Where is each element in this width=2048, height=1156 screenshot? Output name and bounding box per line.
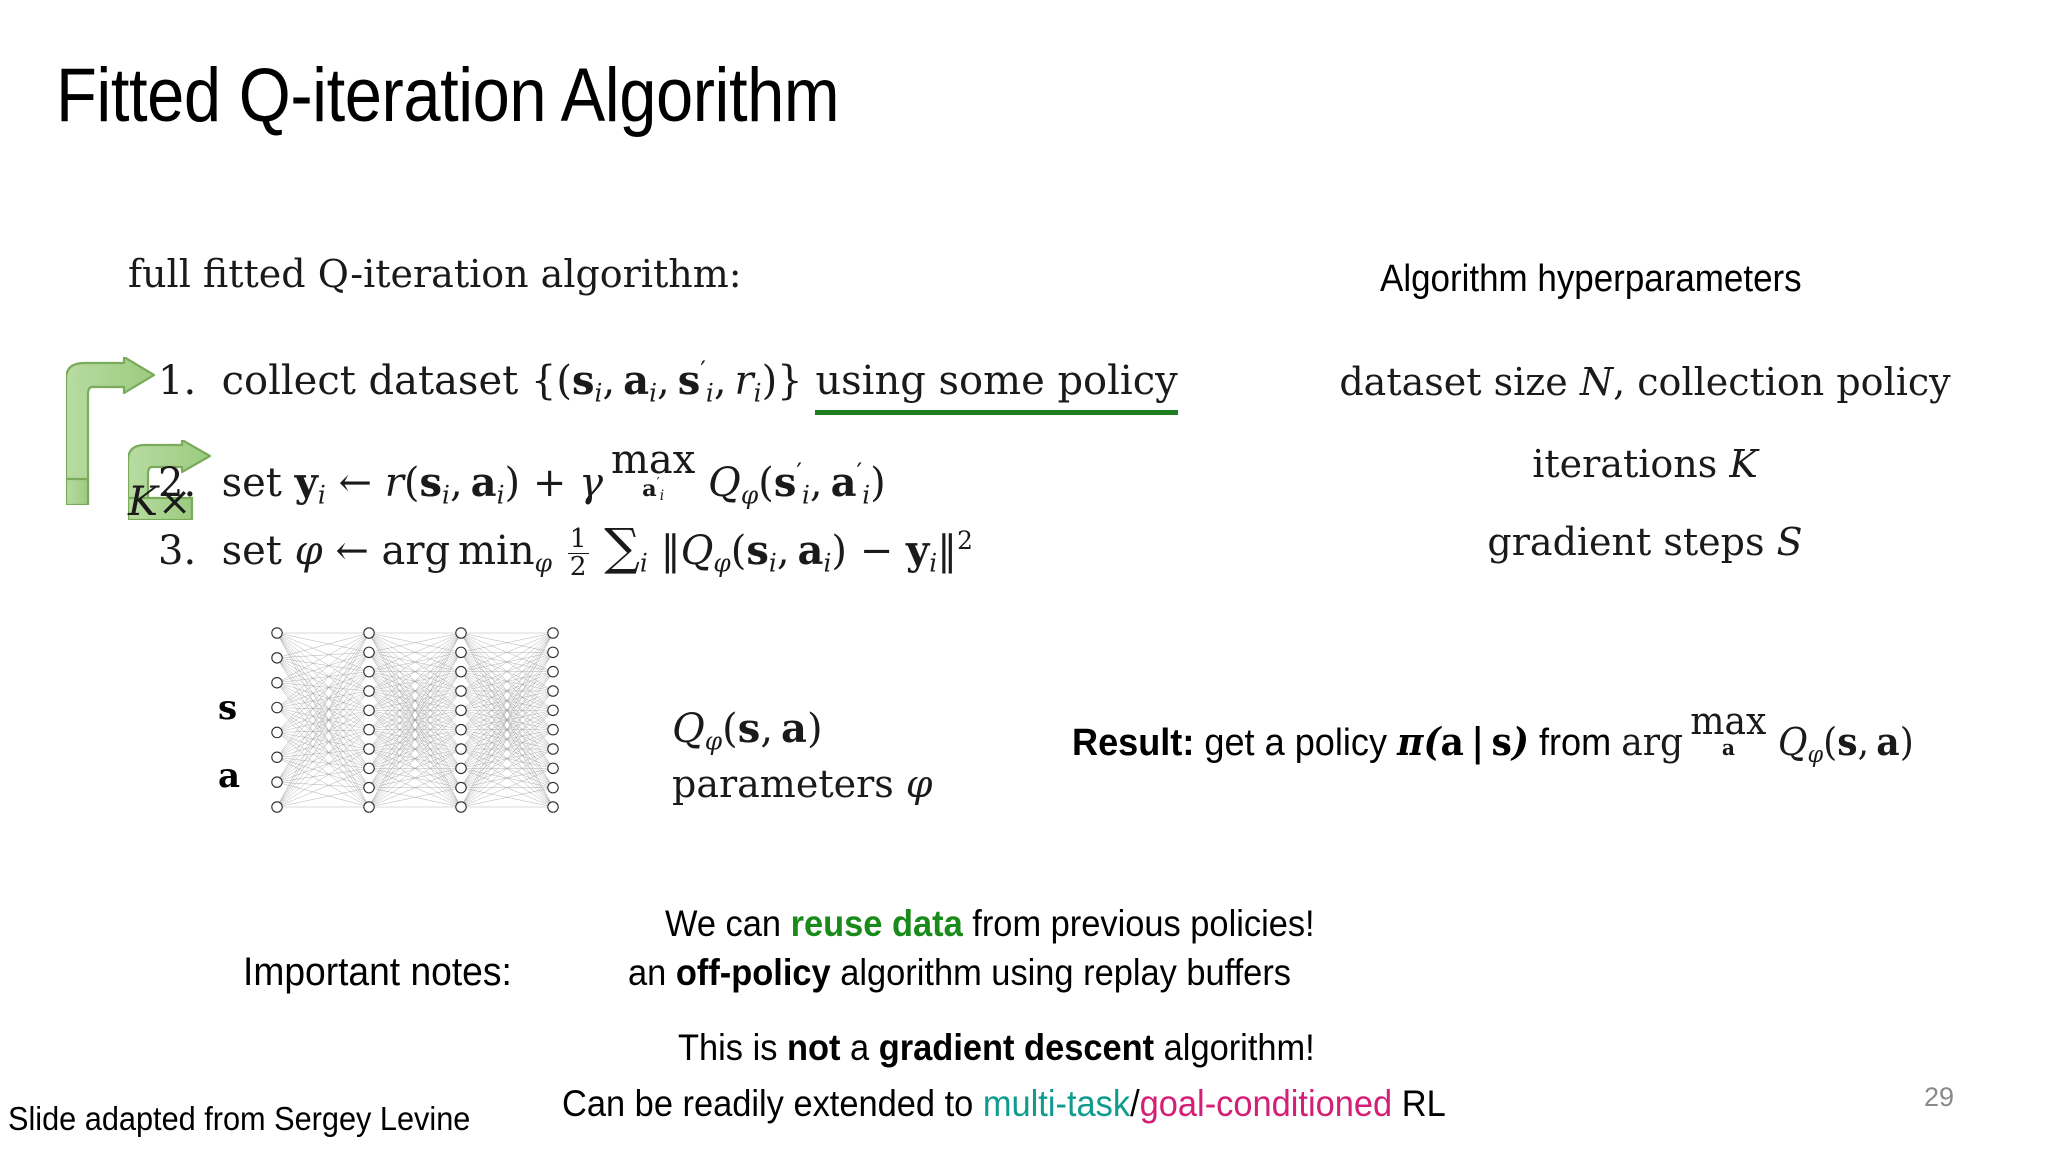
neural-network-diagram xyxy=(265,625,565,820)
network-input-label-a: a xyxy=(218,756,240,796)
network-output-function: Qφ(s, a) xyxy=(672,705,823,752)
page-title: Fitted Q-iteration Algorithm xyxy=(56,52,839,139)
page-number: 29 xyxy=(1924,1082,1954,1113)
step-3-number: 3. xyxy=(158,528,196,574)
step-1-number: 1. xyxy=(158,358,196,404)
note-line-not-gradient-descent: This is not a gradient descent algorithm… xyxy=(678,1027,1315,1069)
step-2-body: set yi ← r(si, ai) + γ maxa′i Qφ(s′i, a′… xyxy=(209,460,886,506)
note-3-part-0: Can be readily extended to xyxy=(562,1083,983,1124)
step-1-underlined-suffix: using some policy xyxy=(815,358,1177,415)
footer-credit: Slide adapted from Sergey Levine xyxy=(8,1100,470,1138)
note-1-part-2: algorithm using replay buffers xyxy=(831,952,1291,993)
algorithm-step-2: 2. set yi ← r(si, ai) + γ maxa′i Qφ(s′i,… xyxy=(158,440,886,506)
result-text-before: get a policy xyxy=(1204,722,1387,764)
algorithm-heading-text: full fitted Q-iteration algorithm: xyxy=(128,252,742,296)
step-2-number: 2. xyxy=(158,460,196,506)
note-line-off-policy: an off-policy algorithm using replay buf… xyxy=(628,952,1291,994)
result-expression: arg maxa Qφ(s, a) xyxy=(1621,720,1914,764)
note-2-part-0: This is xyxy=(678,1027,787,1068)
note-3-part-4: RL xyxy=(1392,1083,1446,1124)
important-notes-heading: Important notes: xyxy=(243,950,512,995)
note-line-multi-task-goal-conditioned: Can be readily extended to multi-task/go… xyxy=(562,1083,1446,1125)
note-0-part-1: reuse data xyxy=(791,903,963,944)
hyperparameter-dataset-size: dataset size N, collection policy xyxy=(1285,360,2005,404)
step-3-body: set φ ← arg minφ 12 ∑i ‖Qφ(si, ai) − yi‖… xyxy=(209,528,973,574)
algorithm-step-1: 1. collect dataset {(si, ai, s′i, ri)} u… xyxy=(158,357,1178,404)
note-2-part-4: algorithm! xyxy=(1154,1027,1315,1068)
step-1-body: collect dataset {(si, ai, s′i, ri)} xyxy=(209,358,815,404)
note-3-part-3: goal-conditioned xyxy=(1140,1083,1393,1124)
note-2-part-2: a xyxy=(840,1027,878,1068)
algorithm-step-3: 3. set φ ← arg minφ 12 ∑i ‖Qφ(si, ai) − … xyxy=(158,518,973,581)
network-parameters-label: parameters φ xyxy=(672,762,932,806)
hyperparameters-heading: Algorithm hyperparameters xyxy=(1380,258,1802,301)
note-0-part-0: We can xyxy=(665,903,791,944)
hyperparameter-iterations: iterations K xyxy=(1285,442,2005,486)
algorithm-heading: full fitted Q-iteration algorithm: xyxy=(128,252,742,296)
result-line: Result: get a policy π(a | s) from arg m… xyxy=(1072,702,1914,765)
hyperparameter-gradient-steps: gradient steps S xyxy=(1285,520,2005,564)
note-1-part-1: off-policy xyxy=(676,952,831,993)
result-label: Result: xyxy=(1072,722,1194,764)
slide-canvas: Fitted Q-iteration Algorithm full fitted… xyxy=(0,0,2048,1156)
note-1-part-0: an xyxy=(628,952,676,993)
result-text-middle: from xyxy=(1539,722,1611,764)
note-0-part-2: from previous policies! xyxy=(963,903,1315,944)
result-policy: π(a | s) xyxy=(1397,719,1529,764)
note-2-part-1: not xyxy=(787,1027,841,1068)
note-line-reuse-data: We can reuse data from previous policies… xyxy=(665,903,1315,945)
note-2-part-3: gradient descent xyxy=(879,1027,1154,1068)
network-input-label-s: s xyxy=(218,688,237,728)
note-3-part-1: multi-task xyxy=(983,1083,1130,1124)
note-3-part-2: / xyxy=(1130,1083,1140,1124)
